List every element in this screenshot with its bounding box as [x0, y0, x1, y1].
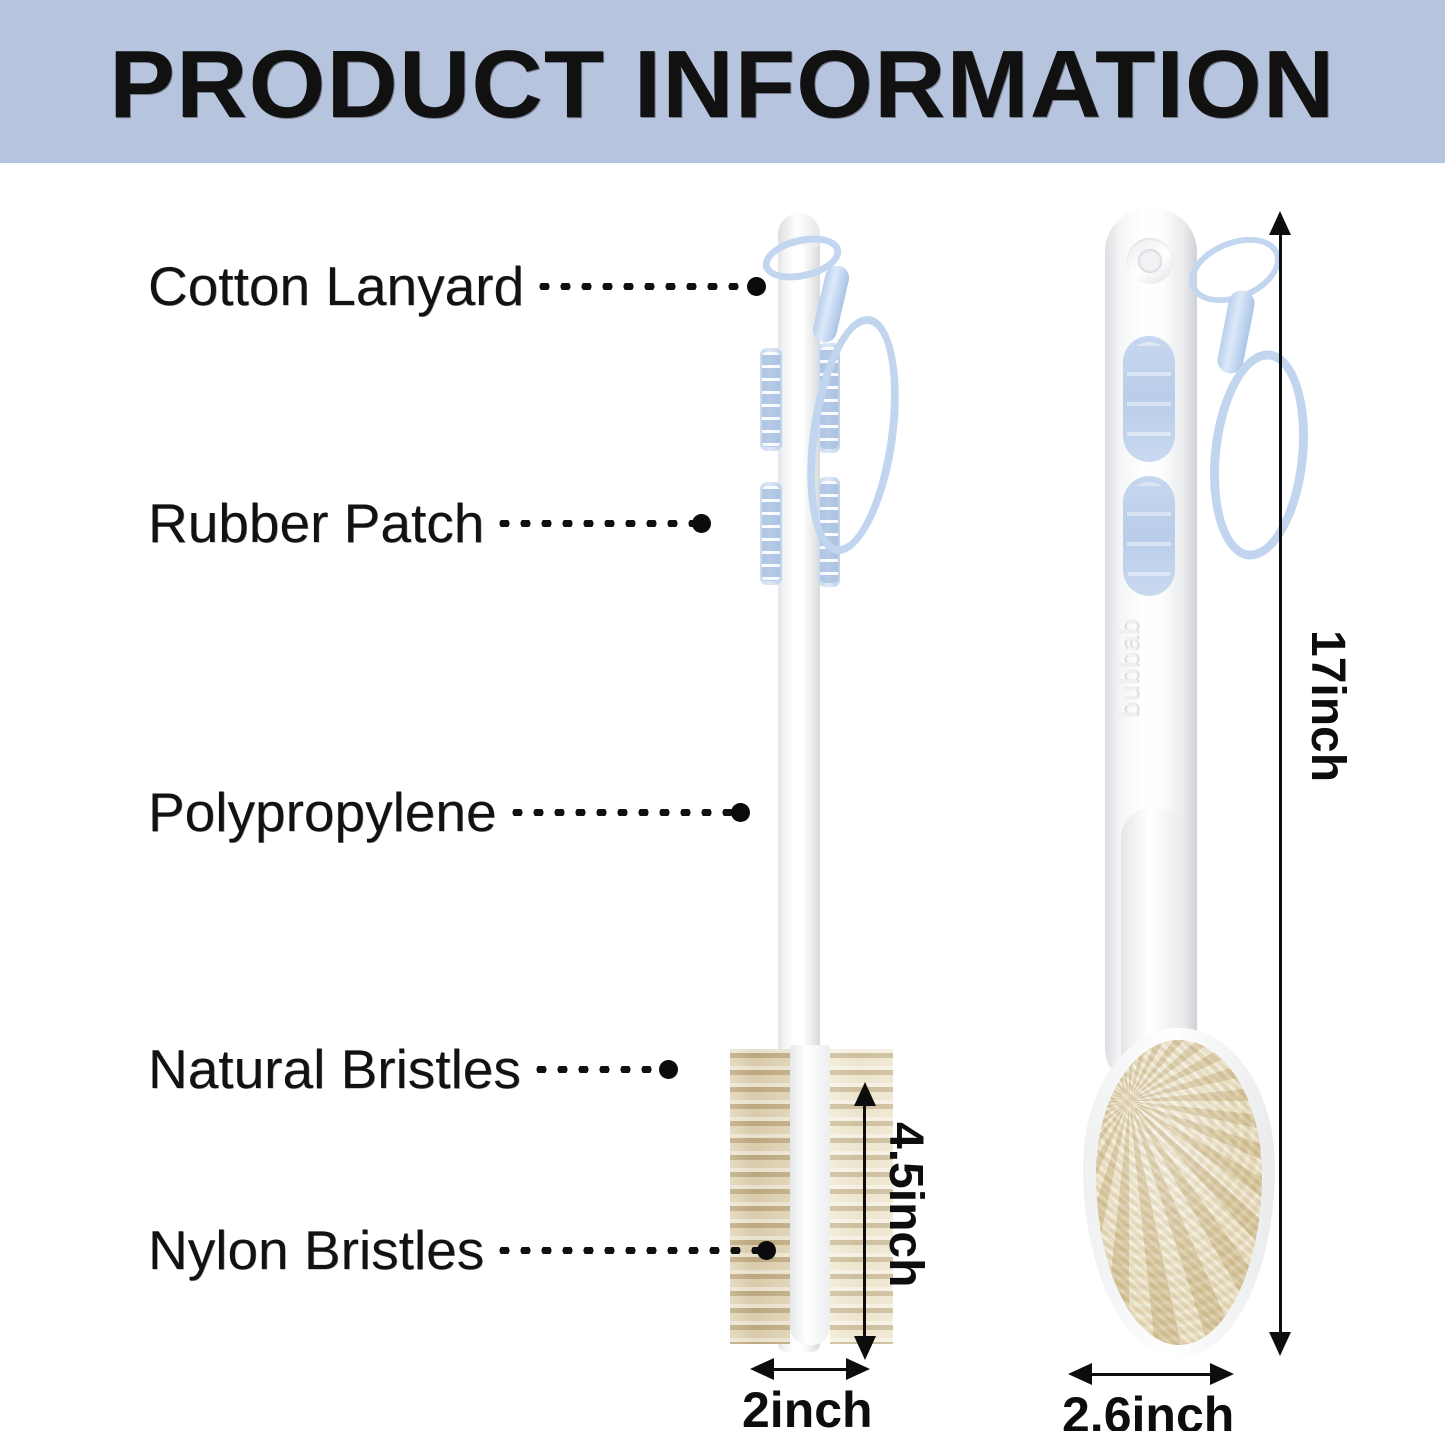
- leader-line-polypropylene: [507, 809, 733, 816]
- dimension-label-head-width-front: 2.6inch: [1062, 1386, 1234, 1431]
- callout-label-cotton-lanyard: Cotton Lanyard: [148, 258, 524, 316]
- arrow-left-icon: [750, 1358, 774, 1380]
- dimension-label-head-length: 4.5inch: [878, 1122, 933, 1287]
- brush-a-head-stem: [790, 1045, 830, 1345]
- callout-polypropylene: Polypropylene: [148, 784, 750, 842]
- dimension-label-total-length: 17inch: [1300, 630, 1355, 782]
- dimension-line-horizontal: [772, 1368, 849, 1371]
- callout-natural-bristles: Natural Bristles: [148, 1041, 678, 1099]
- callout-label-polypropylene: Polypropylene: [148, 784, 497, 842]
- callout-label-rubber-patch: Rubber Patch: [148, 495, 484, 553]
- rubber-grip-pad-lower: [1123, 476, 1175, 596]
- header-banner: PRODUCT INFORMATION: [0, 0, 1445, 163]
- hanging-hole-bore: [1138, 249, 1162, 273]
- leader-dot-nylon-bristles: [757, 1241, 776, 1260]
- leader-line-rubber-patch: [494, 520, 694, 527]
- callout-label-natural-bristles: Natural Bristles: [148, 1041, 521, 1099]
- dimension-label-head-width-side: 2inch: [742, 1381, 873, 1431]
- callout-nylon-bristles: Nylon Bristles: [148, 1222, 776, 1280]
- callout-rubber-patch: Rubber Patch: [148, 495, 711, 553]
- arrow-right-icon: [1210, 1363, 1234, 1385]
- product-information-infographic: PRODUCT INFORMATION bubbab: [0, 0, 1445, 1431]
- leader-dot-polypropylene: [731, 803, 750, 822]
- dimension-line-horizontal: [1090, 1373, 1213, 1376]
- leader-line-natural-bristles: [531, 1066, 661, 1073]
- arrow-left-icon: [1068, 1363, 1092, 1385]
- arrow-down-icon: [1269, 1332, 1291, 1356]
- leader-dot-rubber-patch: [692, 514, 711, 533]
- rubber-patch-left-upper: [760, 348, 782, 451]
- dimension-line-vertical: [863, 1104, 866, 1337]
- leader-dot-cotton-lanyard: [747, 277, 766, 296]
- natural-bristles-block: [730, 1049, 790, 1344]
- leader-line-nylon-bristles: [494, 1247, 759, 1254]
- page-title: PRODUCT INFORMATION: [109, 31, 1335, 133]
- leader-line-cotton-lanyard: [534, 283, 749, 290]
- arrow-down-icon: [854, 1336, 876, 1360]
- arrow-up-icon: [854, 1082, 876, 1106]
- arrow-up-icon: [1269, 211, 1291, 235]
- callout-label-nylon-bristles: Nylon Bristles: [148, 1222, 484, 1280]
- brand-logo: bubbab: [1113, 618, 1187, 717]
- brush-b-head: [1083, 1028, 1275, 1358]
- rubber-patch-left-lower: [760, 482, 782, 585]
- arrow-right-icon: [846, 1358, 870, 1380]
- rubber-grip-pad-upper: [1123, 336, 1175, 462]
- callout-cotton-lanyard: Cotton Lanyard: [148, 258, 766, 316]
- leader-dot-natural-bristles: [659, 1060, 678, 1079]
- dimension-line-vertical: [1279, 233, 1282, 1333]
